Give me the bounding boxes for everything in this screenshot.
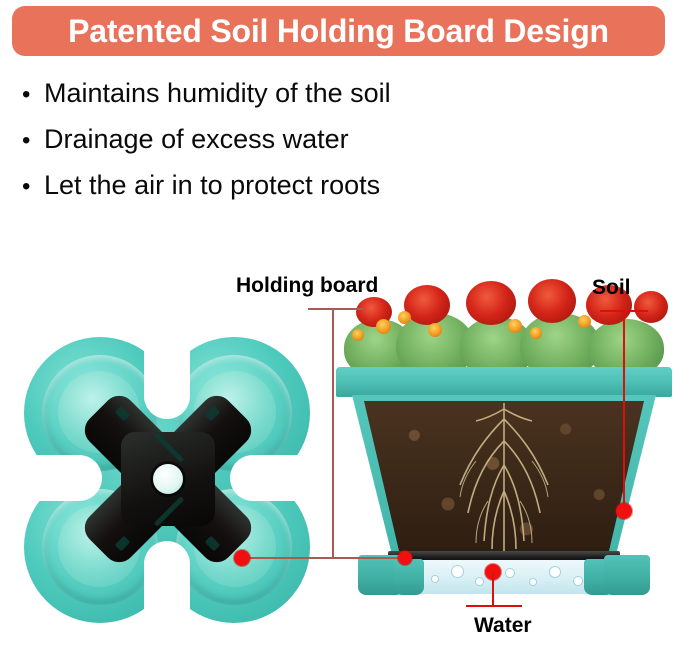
flower-bloom — [466, 281, 516, 325]
accent-flower — [508, 319, 522, 333]
root-system-icon — [364, 401, 644, 557]
accent-flower — [352, 329, 364, 341]
water-bubble — [574, 577, 582, 585]
callout-marker-holding-board — [398, 551, 412, 565]
feature-text: Let the air in to protect roots — [44, 162, 380, 208]
pot-foot — [394, 559, 424, 595]
pot-foot — [604, 555, 650, 595]
accent-flower — [428, 323, 442, 337]
feature-item: • Let the air in to protect roots — [22, 162, 582, 208]
flower-bloom — [528, 279, 576, 323]
planter-cross-section-image — [336, 255, 672, 605]
accent-flower — [398, 311, 411, 324]
planter-top-view-image — [18, 333, 318, 628]
flower-bloom — [634, 291, 668, 323]
leader-tick-holding-board — [308, 308, 364, 310]
callout-label-water: Water — [474, 615, 532, 636]
accent-flower — [530, 327, 542, 339]
callout-label-soil: Soil — [592, 277, 631, 298]
page-title: Patented Soil Holding Board Design — [68, 15, 609, 47]
leader-line-soil — [623, 310, 625, 510]
feature-text: Maintains humidity of the soil — [44, 70, 391, 116]
feature-text: Drainage of excess water — [44, 116, 349, 162]
bullet-icon: • — [22, 72, 44, 118]
water-bubble — [452, 566, 463, 577]
water-bubble — [476, 578, 483, 585]
feature-item: • Drainage of excess water — [22, 116, 582, 162]
feature-list: • Maintains humidity of the soil • Drain… — [22, 70, 582, 208]
leader-line-holding-board — [332, 308, 334, 558]
callout-marker-holding-board — [234, 550, 250, 566]
bullet-icon: • — [22, 118, 44, 164]
water-bubble — [550, 567, 560, 577]
feature-item: • Maintains humidity of the soil — [22, 70, 582, 116]
drainage-hole — [153, 464, 183, 494]
accent-flower — [578, 315, 591, 328]
water-bubble — [506, 569, 514, 577]
holding-board-part — [72, 383, 264, 575]
bullet-icon: • — [22, 164, 44, 210]
callout-marker-soil — [616, 503, 632, 519]
leader-line-water — [492, 573, 494, 607]
product-diagram: Holding board Soil Water — [0, 255, 679, 646]
water-reservoir — [398, 560, 610, 594]
callout-label-holding-board: Holding board — [236, 275, 378, 296]
accent-flower — [376, 319, 391, 334]
flower-bloom — [404, 285, 450, 325]
leader-tick-water — [466, 605, 522, 607]
water-bubble — [530, 579, 536, 585]
header-banner: Patented Soil Holding Board Design — [12, 6, 665, 56]
pot-rim — [336, 367, 672, 397]
water-bubble — [432, 576, 438, 582]
leader-line-holding-board — [243, 557, 408, 559]
